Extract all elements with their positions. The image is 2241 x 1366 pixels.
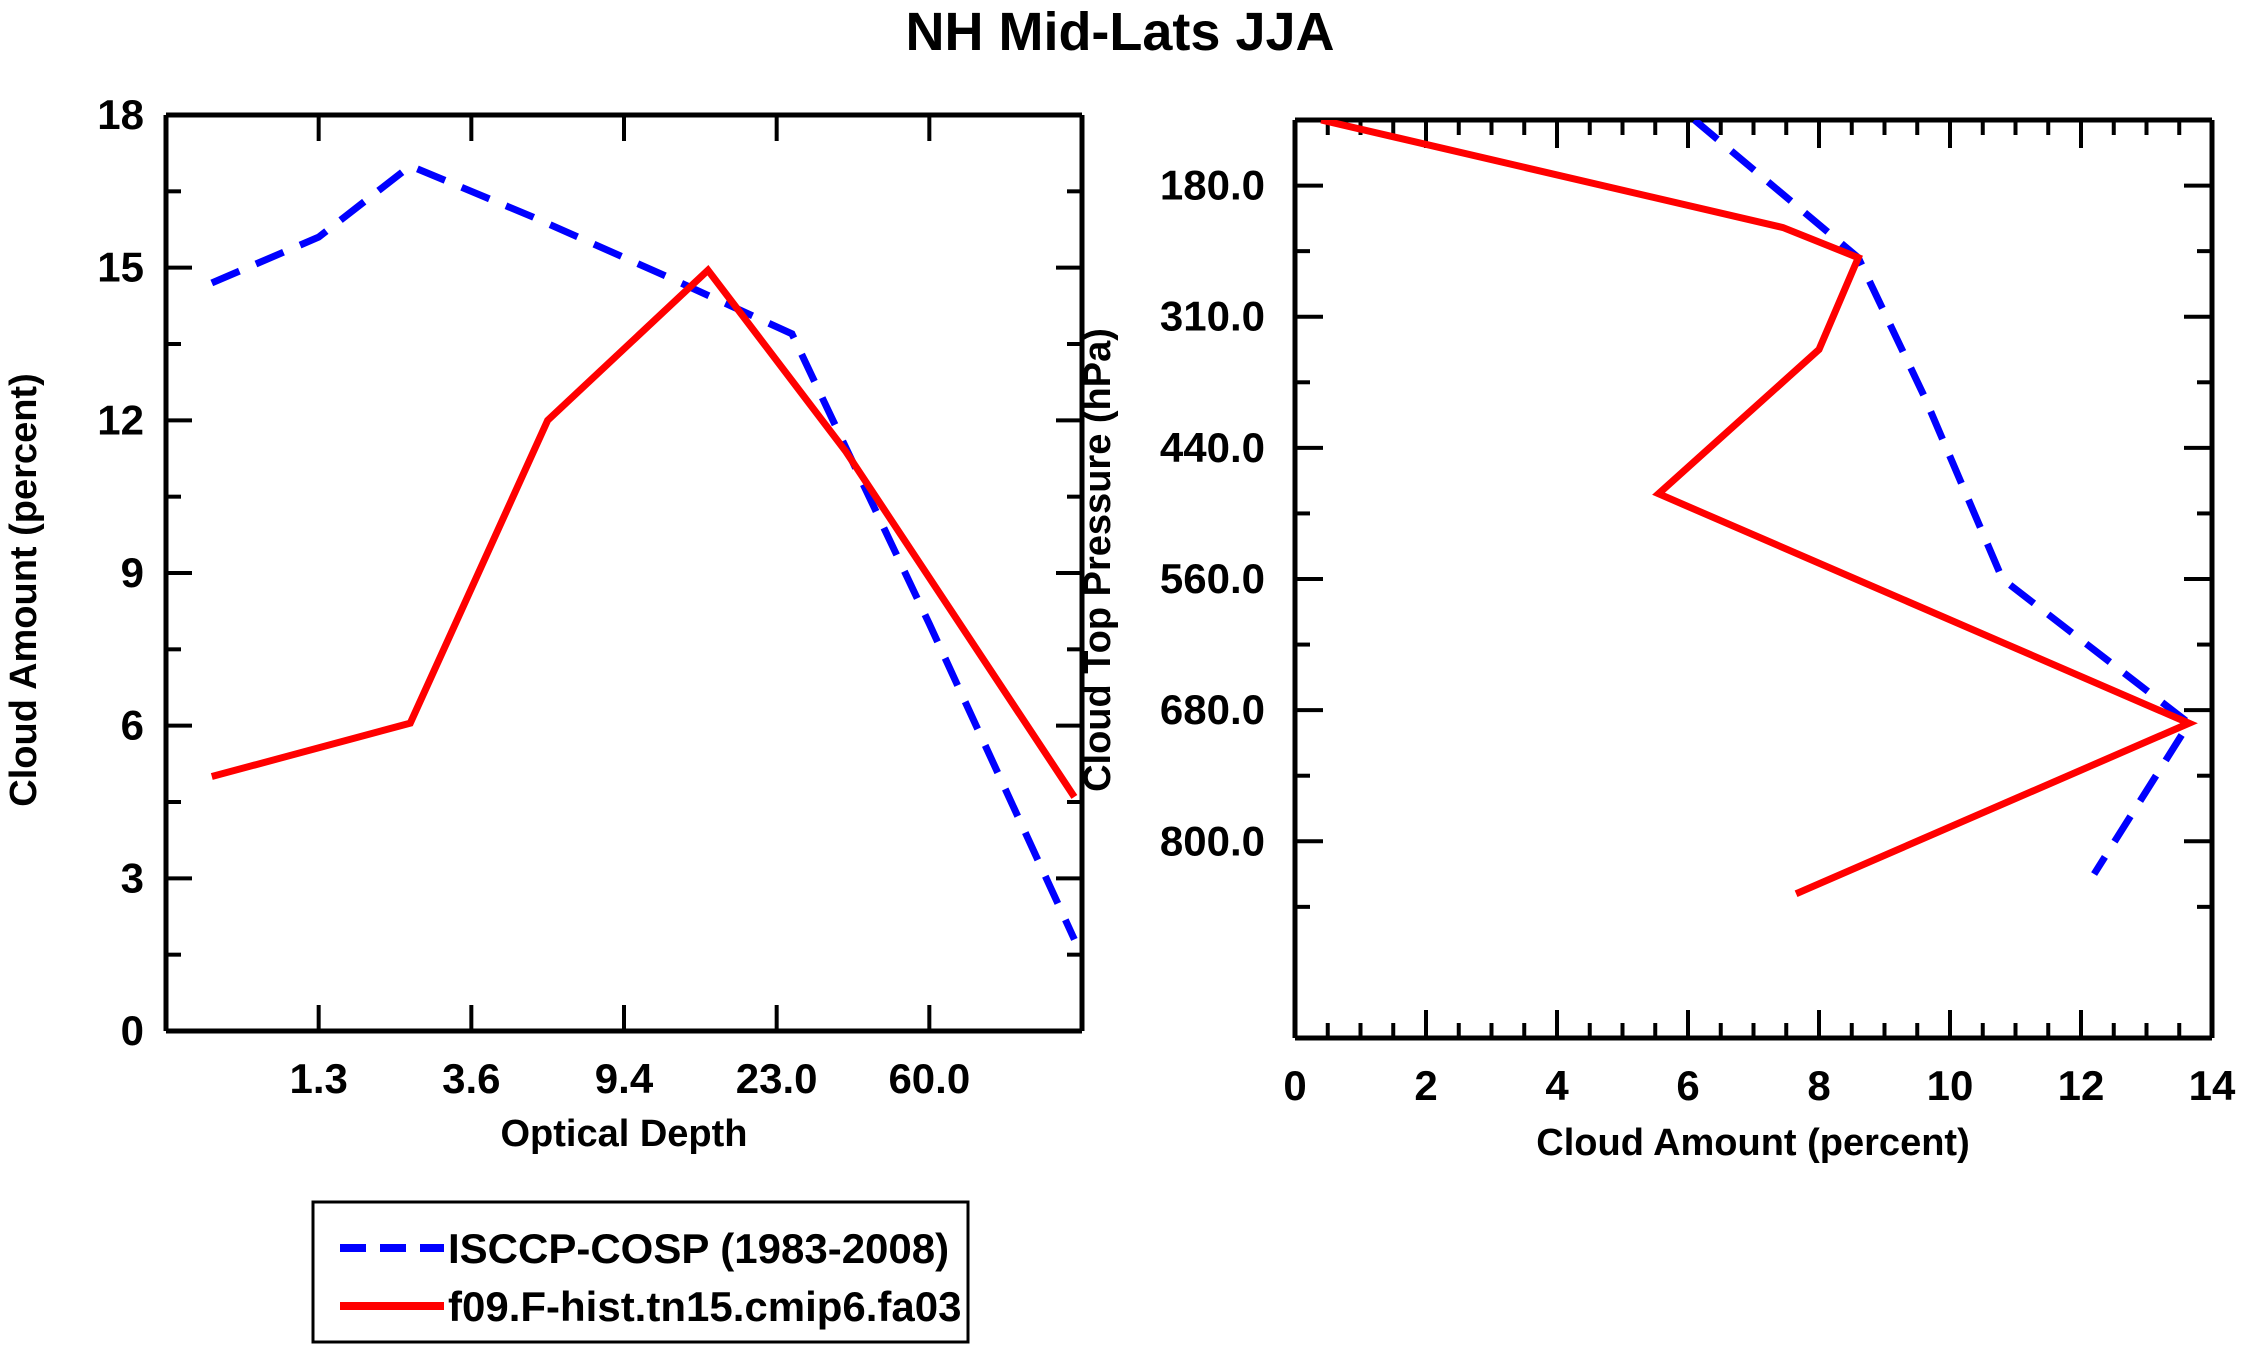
left-panel-y-tick-label: 0	[121, 1007, 144, 1054]
left-panel-y-tick-label: 15	[97, 244, 144, 291]
left-panel-y-tick-label: 3	[121, 854, 144, 901]
legend-label: ISCCP-COSP (1983-2008)	[448, 1225, 949, 1272]
right-panel-y-tick-label: 440.0	[1160, 424, 1265, 471]
right-panel-y-tick-label: 560.0	[1160, 555, 1265, 602]
right-panel-y-tick-label: 310.0	[1160, 293, 1265, 340]
left-panel-x-tick-label: 9.4	[595, 1055, 654, 1102]
legend-label: f09.F-hist.tn15.cmip6.fa03	[448, 1283, 962, 1330]
left-panel-y-tick-label: 12	[97, 396, 144, 443]
left-panel-y-tick-label: 18	[97, 91, 144, 138]
figure-canvas: NH Mid-Lats JJA 03691215181.33.69.423.06…	[0, 0, 2241, 1366]
right-panel-x-axis-label: Cloud Amount (percent)	[1536, 1122, 1969, 1164]
left-panel-y-axis-label: Cloud Amount (percent)	[3, 373, 45, 806]
right-panel-x-tick-label: 10	[1927, 1062, 1974, 1109]
left-panel-y-tick-label: 9	[121, 549, 144, 596]
right-panel-y-tick-label: 800.0	[1160, 817, 1265, 864]
right-panel-x-tick-label: 14	[2189, 1062, 2236, 1109]
left-panel-x-tick-label: 60.0	[888, 1055, 970, 1102]
right-panel-x-tick-label: 2	[1414, 1062, 1437, 1109]
left-panel-x-tick-label: 1.3	[289, 1055, 347, 1102]
page-title: NH Mid-Lats JJA	[905, 2, 1334, 62]
right-panel-x-tick-label: 0	[1283, 1062, 1306, 1109]
legend: ISCCP-COSP (1983-2008)f09.F-hist.tn15.cm…	[313, 1202, 968, 1342]
right-panel-x-tick-label: 6	[1676, 1062, 1699, 1109]
left-panel-x-tick-label: 3.6	[442, 1055, 500, 1102]
right-panel-y-tick-label: 680.0	[1160, 686, 1265, 733]
right-panel-y-tick-label: 180.0	[1160, 162, 1265, 209]
left-panel-x-axis-label: Optical Depth	[500, 1113, 747, 1155]
right-panel-y-axis-label: Cloud Top Pressure (hPa)	[1077, 328, 1119, 792]
right-panel-x-tick-label: 12	[2058, 1062, 2105, 1109]
right-panel-x-tick-label: 8	[1807, 1062, 1830, 1109]
right-panel-x-tick-label: 4	[1545, 1062, 1569, 1109]
figure-page: NH Mid-Lats JJA 03691215181.33.69.423.06…	[0, 0, 2241, 1366]
left-panel-x-tick-label: 23.0	[736, 1055, 818, 1102]
left-panel-y-tick-label: 6	[121, 702, 144, 749]
